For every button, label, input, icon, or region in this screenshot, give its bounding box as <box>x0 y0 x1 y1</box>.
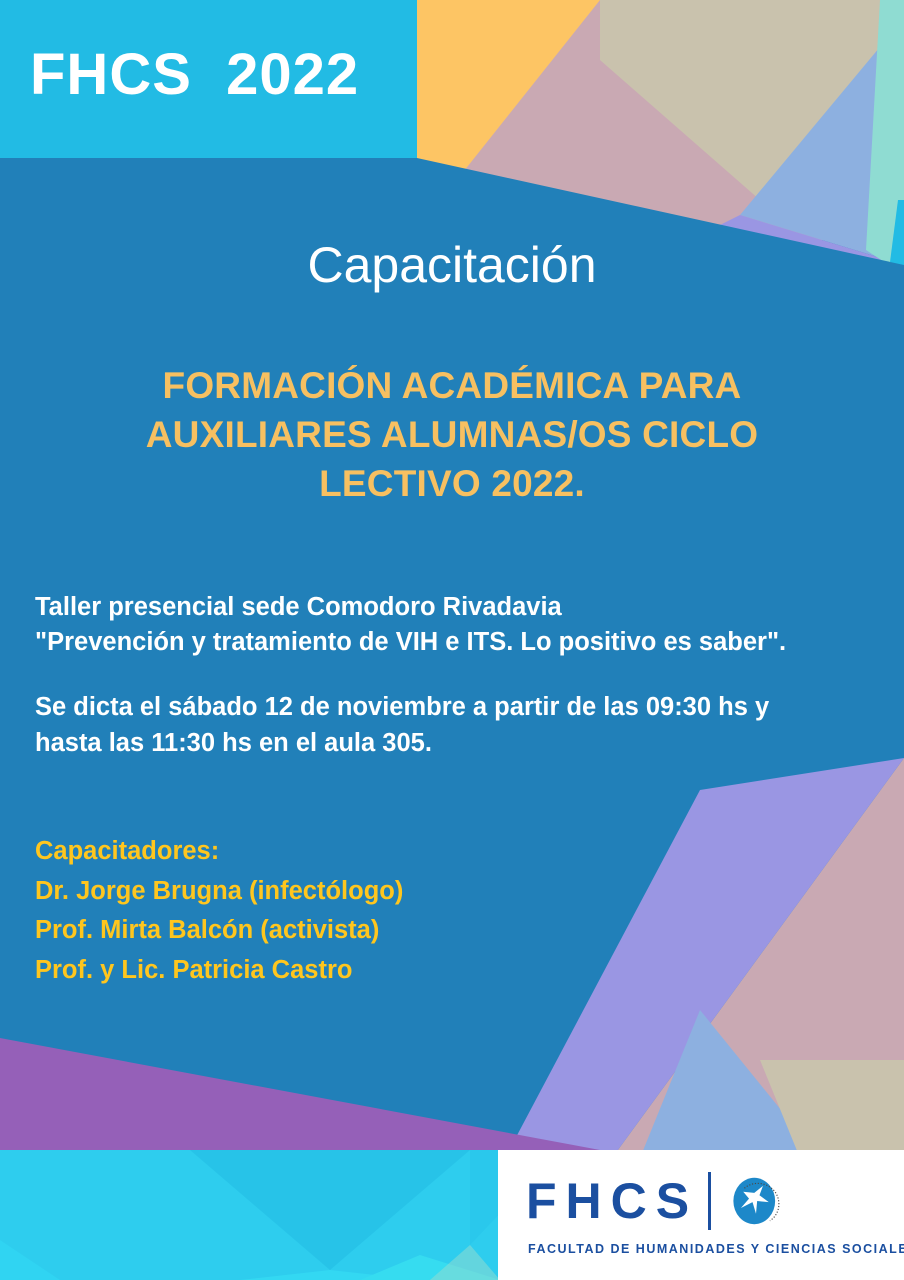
poster-canvas: FHCS 2022 Capacitación FORMACIÓN ACADÉMI… <box>0 0 904 1280</box>
logo-panel: FHCS FACULTAD DE HUMANIDADES Y CIENCIAS … <box>498 1150 904 1280</box>
logo-wordmark: FHCS <box>526 1176 698 1226</box>
trainer-item: Prof. y Lic. Patricia Castro <box>35 951 635 991</box>
body-line-1: Taller presencial sede Comodoro Rivadavi… <box>35 590 875 625</box>
logo-divider <box>708 1172 711 1230</box>
trainers-heading: Capacitadores: <box>35 832 635 872</box>
trainer-item: Prof. Mirta Balcón (activista) <box>35 911 635 951</box>
poster-content: Capacitación FORMACIÓN ACADÉMICA PARA AU… <box>0 0 904 1280</box>
body-line-4: hasta las 11:30 hs en el aula 305. <box>35 726 875 761</box>
subject-heading: Capacitación <box>0 238 904 293</box>
trainer-item: Dr. Jorge Brugna (infectólogo) <box>35 872 635 912</box>
body-text-block: Taller presencial sede Comodoro Rivadavi… <box>35 590 875 761</box>
trainers-block: Capacitadores: Dr. Jorge Brugna (infectó… <box>35 832 635 990</box>
body-line-3: Se dicta el sábado 12 de noviembre a par… <box>35 690 875 725</box>
logo-subtitle: FACULTAD DE HUMANIDADES Y CIENCIAS SOCIA… <box>528 1242 904 1256</box>
body-paragraph-gap <box>35 660 875 690</box>
main-title: FORMACIÓN ACADÉMICA PARA AUXILIARES ALUM… <box>70 362 834 508</box>
albatross-emblem-icon <box>727 1172 785 1230</box>
body-line-2: "Prevención y tratamiento de VIH e ITS. … <box>35 625 875 660</box>
logo-row: FHCS <box>526 1168 785 1234</box>
